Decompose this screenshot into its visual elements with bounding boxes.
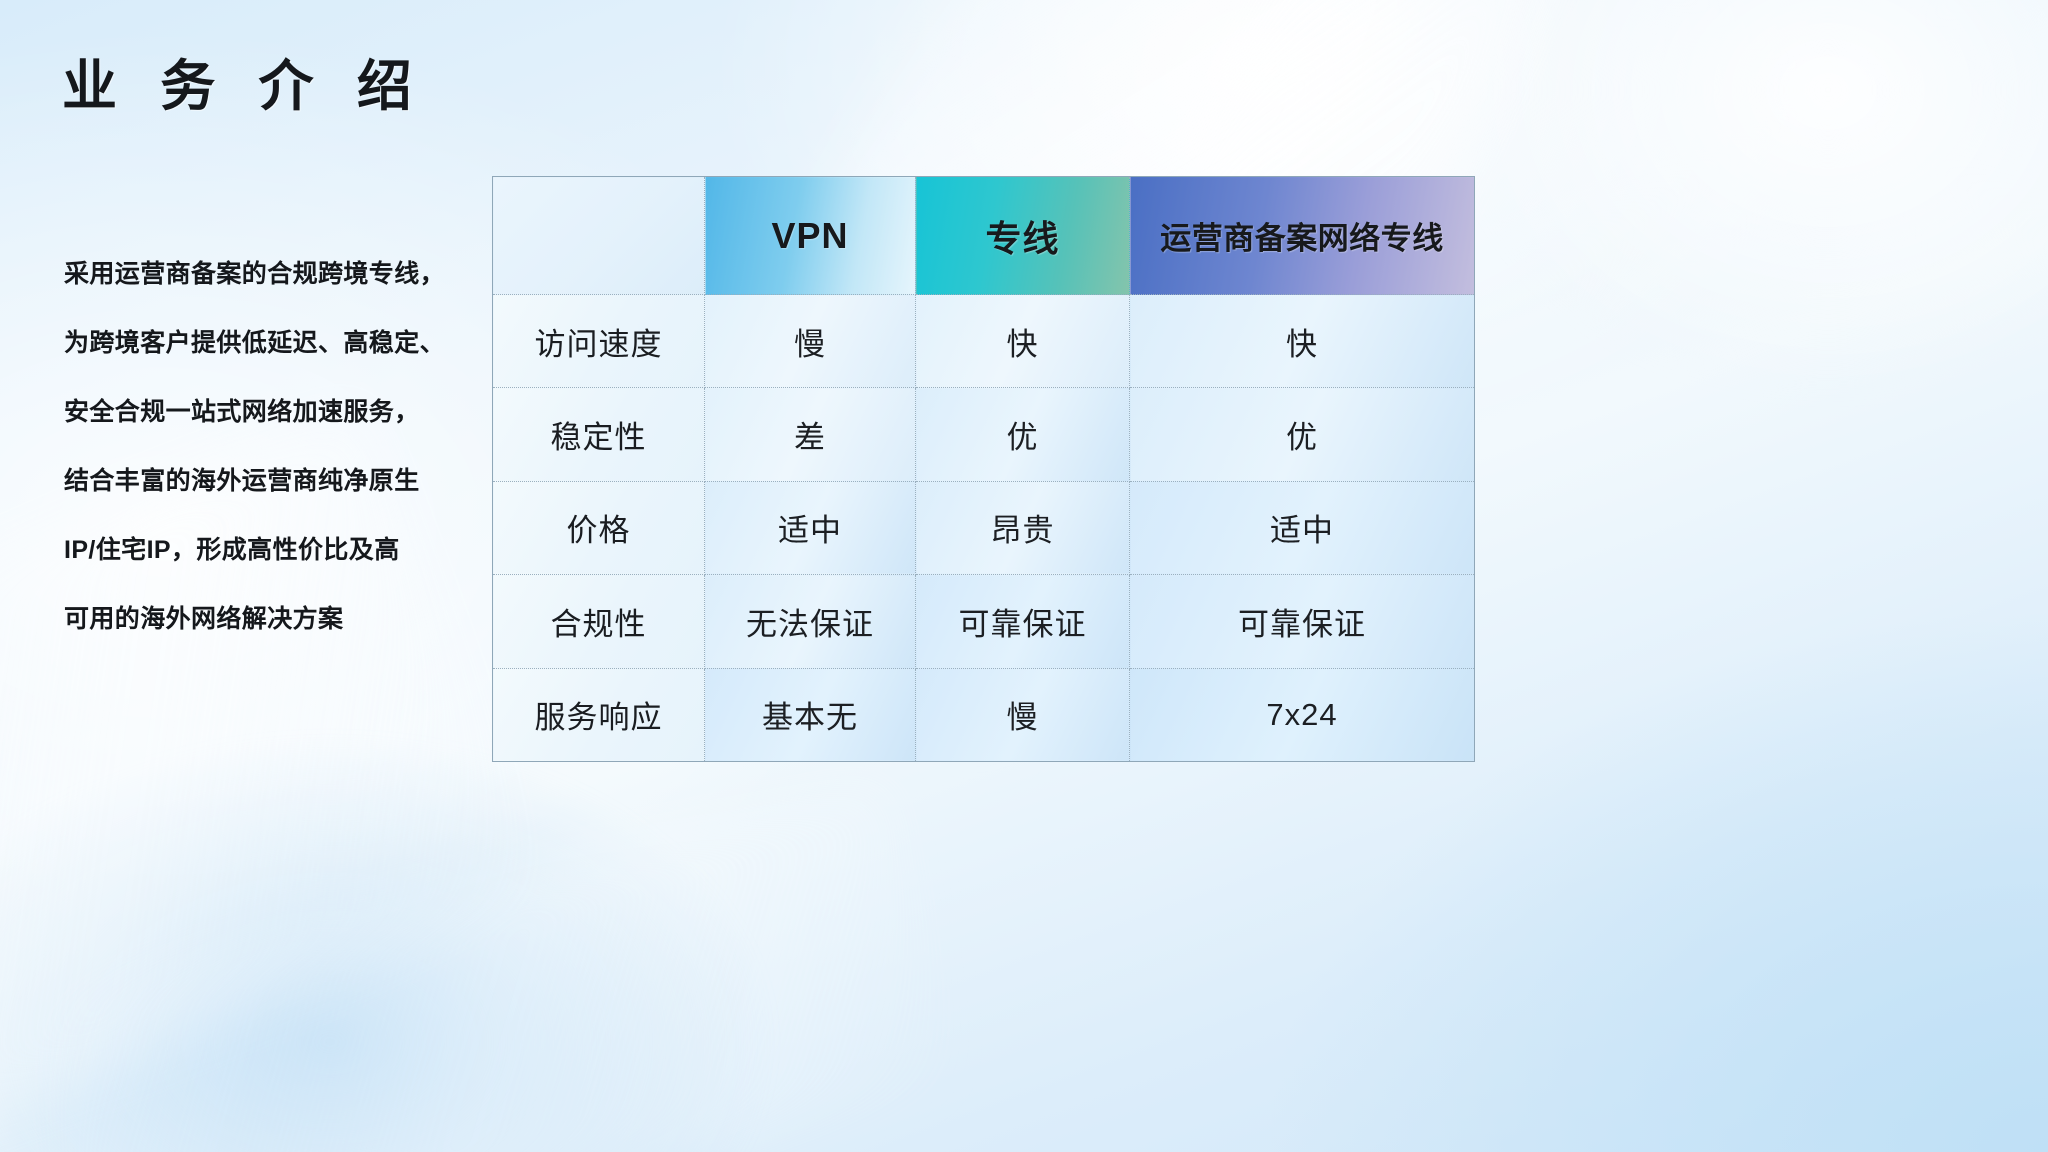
table-header-carrier-line-label: 运营商备案网络专线 <box>1160 221 1444 256</box>
table-row: 服务响应 基本无 慢 7x24 <box>493 668 1475 761</box>
row-value-dedicated-line: 优 <box>916 388 1130 481</box>
table-header-dedicated-line-label: 专线 <box>985 218 1059 259</box>
row-value-carrier-line: 可靠保证 <box>1130 575 1475 668</box>
row-value-dedicated-line: 慢 <box>916 668 1130 761</box>
bottom-left-tint <box>0 732 780 1152</box>
row-key: 价格 <box>493 481 705 574</box>
row-value-vpn: 慢 <box>705 295 916 388</box>
row-key: 服务响应 <box>493 668 705 761</box>
row-value-dedicated-line: 可靠保证 <box>916 575 1130 668</box>
row-value-vpn: 无法保证 <box>705 575 916 668</box>
table-header-dedicated-line: 专线 <box>916 177 1130 295</box>
comparison-table: VPN 专线 运营商备案网络专线 访问速度 慢 快 快 稳定性 差 优 <box>492 176 1475 762</box>
top-right-glow <box>1448 0 2048 400</box>
table-header-row: VPN 专线 运营商备案网络专线 <box>493 177 1475 295</box>
table-header-vpn: VPN <box>705 177 916 295</box>
row-value-carrier-line: 快 <box>1130 295 1475 388</box>
row-value-vpn: 适中 <box>705 481 916 574</box>
row-value-vpn: 基本无 <box>705 668 916 761</box>
row-value-dedicated-line: 快 <box>916 295 1130 388</box>
table-header-carrier-line: 运营商备案网络专线 <box>1130 177 1475 295</box>
row-value-dedicated-line: 昂贵 <box>916 481 1130 574</box>
table-header-blank <box>493 177 705 295</box>
table-header-vpn-label: VPN <box>771 215 848 256</box>
slide-canvas: 业 务 介 绍 采用运营商备案的合规跨境专线， 为跨境客户提供低延迟、高稳定、 … <box>0 0 2048 1152</box>
row-value-vpn: 差 <box>705 388 916 481</box>
table-row: 价格 适中 昂贵 适中 <box>493 481 1475 574</box>
page-title: 业 务 介 绍 <box>62 56 426 117</box>
row-value-carrier-line: 优 <box>1130 388 1475 481</box>
row-value-carrier-line: 7x24 <box>1130 668 1475 761</box>
table-row: 合规性 无法保证 可靠保证 可靠保证 <box>493 575 1475 668</box>
table-row: 稳定性 差 优 优 <box>493 388 1475 481</box>
row-key: 合规性 <box>493 575 705 668</box>
table-row: 访问速度 慢 快 快 <box>493 295 1475 388</box>
row-value-carrier-line: 适中 <box>1130 481 1475 574</box>
row-key: 访问速度 <box>493 295 705 388</box>
row-key: 稳定性 <box>493 388 705 481</box>
light-streak <box>15 776 966 1152</box>
